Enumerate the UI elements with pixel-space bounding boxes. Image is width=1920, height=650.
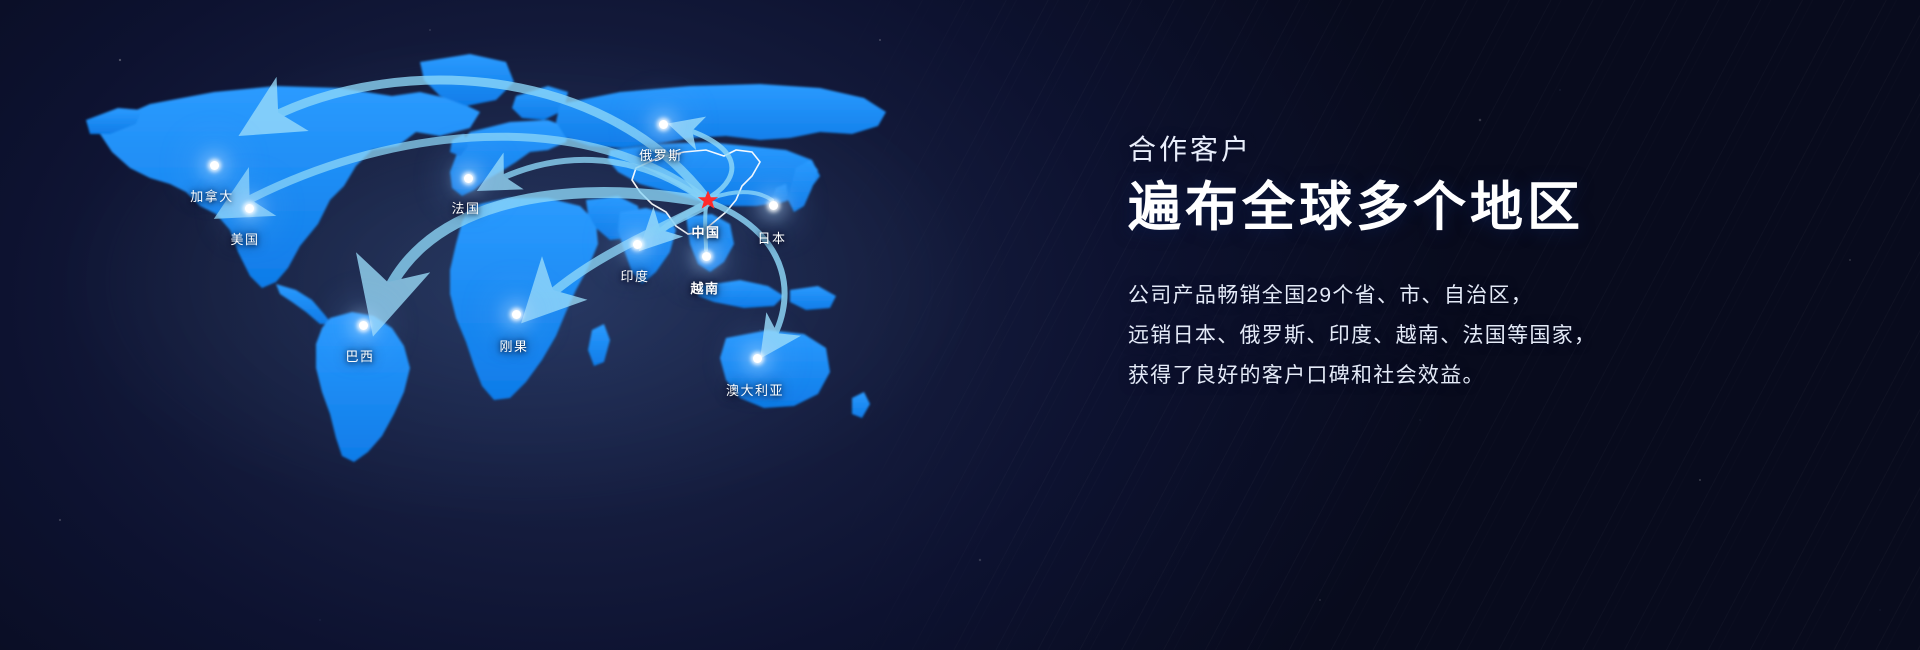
paragraph-line-2: 远销日本、俄罗斯、印度、越南、法国等国家， [1128, 316, 1828, 356]
city-dot-icon [659, 120, 668, 129]
map-label-巴西: 巴西 [345, 346, 374, 365]
city-dot-icon [769, 201, 778, 210]
map-label-中国: 中国 [691, 222, 720, 241]
city-dot-icon [359, 321, 368, 330]
world-map-banner: 加拿大美国巴西法国俄罗斯日本印度刚果越南澳大利亚中国 合作客户 遍布全球多个地区… [0, 0, 1920, 650]
city-dot-icon [512, 310, 521, 319]
city-dot-icon [464, 174, 473, 183]
map-label-刚果: 刚果 [499, 336, 528, 355]
map-label-俄罗斯: 俄罗斯 [639, 145, 683, 164]
world-map-svg [0, 0, 1100, 650]
city-dot-icon [633, 240, 642, 249]
map-label-日本: 日本 [757, 228, 786, 247]
map-label-美国: 美国 [230, 229, 259, 248]
map-label-印度: 印度 [620, 266, 649, 285]
paragraph-line-1: 公司产品畅销全国29个省、市、自治区， [1128, 276, 1828, 316]
paragraph-line-3: 获得了良好的客户口碑和社会效益。 [1128, 356, 1828, 396]
map-label-法国: 法国 [451, 198, 480, 217]
banner-headline: 遍布全球多个地区 [1128, 177, 1828, 240]
city-dot-icon [753, 354, 762, 363]
map-label-加拿大: 加拿大 [190, 186, 234, 205]
map-label-越南: 越南 [690, 278, 719, 297]
banner-eyebrow: 合作客户 [1128, 132, 1828, 167]
world-map: 加拿大美国巴西法国俄罗斯日本印度刚果越南澳大利亚中国 [0, 0, 1100, 650]
city-dot-icon [245, 204, 254, 213]
banner-paragraph: 公司产品畅销全国29个省、市、自治区， 远销日本、俄罗斯、印度、越南、法国等国家… [1128, 276, 1828, 396]
banner-copy: 合作客户 遍布全球多个地区 公司产品畅销全国29个省、市、自治区， 远销日本、俄… [1128, 132, 1828, 396]
city-dot-icon [702, 252, 711, 261]
map-label-澳大利亚: 澳大利亚 [726, 380, 784, 399]
city-dot-icon [210, 161, 219, 170]
